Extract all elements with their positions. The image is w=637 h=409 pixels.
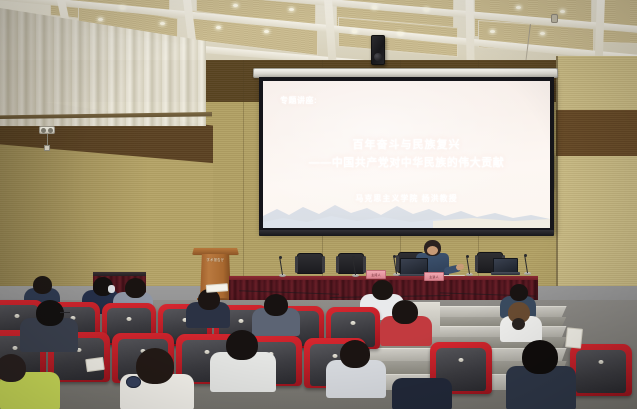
audience-shoulders xyxy=(392,378,452,409)
ceiling-beam xyxy=(465,0,474,64)
audience-head xyxy=(136,348,174,384)
seat-knob xyxy=(459,358,464,362)
downlight-icon xyxy=(216,26,221,29)
emergency-light-box xyxy=(44,145,50,151)
hair-scrunchie xyxy=(126,376,141,388)
downlight-icon xyxy=(264,30,269,33)
downlight-icon xyxy=(424,8,429,11)
slide-label: 专题讲座: xyxy=(280,95,317,106)
audience-head xyxy=(125,278,146,298)
audience-head xyxy=(392,300,418,324)
handout-paper xyxy=(85,357,105,372)
downlight-icon xyxy=(490,30,495,33)
downlight-icon xyxy=(398,32,403,35)
slide-title: 百年奋斗与民族复兴 xyxy=(263,136,550,152)
handout-paper xyxy=(565,327,583,349)
right-wall xyxy=(556,56,637,316)
downlight-icon xyxy=(233,4,238,7)
downlight-icon xyxy=(540,32,545,35)
seat-knob xyxy=(205,350,210,354)
eyeglasses xyxy=(60,312,70,314)
handout-paper xyxy=(206,283,229,293)
microphone-head xyxy=(279,256,282,259)
seat-cushion xyxy=(576,350,626,394)
downlight-icon xyxy=(289,8,294,11)
downlight-icon xyxy=(160,22,165,25)
table-chair xyxy=(297,253,323,274)
audience-head xyxy=(0,354,26,382)
podium-top xyxy=(192,248,239,255)
seat-knob xyxy=(599,360,604,364)
projector-screen: 专题讲座: 百年奋斗与民族复兴 ——中国共产党对中华民族的伟大贡献 马克思主义学… xyxy=(259,77,554,232)
table-nameplate: 主持人 xyxy=(366,270,386,279)
audience-head xyxy=(372,280,393,300)
laptop-screen xyxy=(493,258,518,273)
slide-presenter: 马克思主义学院 杨洪教授 xyxy=(263,193,550,204)
microphone-head xyxy=(466,255,469,258)
microphone-head xyxy=(352,256,355,259)
downlight-icon xyxy=(372,6,377,9)
face-mask xyxy=(108,285,115,293)
slide-subtitle: ——中国共产党对中华民族的伟大贡献 xyxy=(263,154,550,170)
ceiling-beam xyxy=(595,0,605,56)
seat-knob xyxy=(333,354,338,358)
microphone-head xyxy=(393,255,396,258)
audience-head xyxy=(33,276,52,294)
auditorium-seat xyxy=(570,344,632,396)
seat-knob xyxy=(351,321,356,325)
audience-head xyxy=(264,294,288,316)
audience-head xyxy=(340,340,370,368)
microphone-head xyxy=(524,254,527,257)
hair-bun xyxy=(512,318,525,330)
wall-speaker-center xyxy=(371,35,385,65)
downlight-icon xyxy=(560,10,565,13)
audience-head xyxy=(226,330,258,360)
wall-seam xyxy=(243,60,244,305)
seat-knob xyxy=(13,346,18,350)
downlight-icon xyxy=(516,6,521,9)
right-wall-seam xyxy=(556,56,558,316)
laptop-base xyxy=(491,272,520,275)
seat-knob xyxy=(127,317,132,321)
audience-head xyxy=(510,284,528,301)
lecture-hall-scene: 专题讲座: 百年奋斗与民族复兴 ——中国共产党对中华民族的伟大贡献 马克思主义学… xyxy=(0,0,637,409)
ceiling-camera-icon xyxy=(551,14,558,23)
right-wall-band xyxy=(556,110,637,156)
presenter-face xyxy=(427,246,438,255)
audience-head xyxy=(522,340,558,374)
downlight-icon xyxy=(120,6,125,9)
projector-screen-weight-bar xyxy=(259,230,554,236)
table-chair xyxy=(338,253,364,274)
seat-knob xyxy=(15,314,20,318)
downlight-icon xyxy=(98,18,103,21)
podium-front-text: 学术报告厅 xyxy=(201,257,230,262)
emergency-light-icon xyxy=(39,126,55,134)
table-nameplate: 主讲人 xyxy=(424,272,444,281)
slide-surface: 专题讲座: 百年奋斗与民族复兴 ——中国共产党对中华民族的伟大贡献 马克思主义学… xyxy=(263,81,550,228)
downlight-icon xyxy=(352,30,357,33)
seat-knob xyxy=(239,319,244,323)
